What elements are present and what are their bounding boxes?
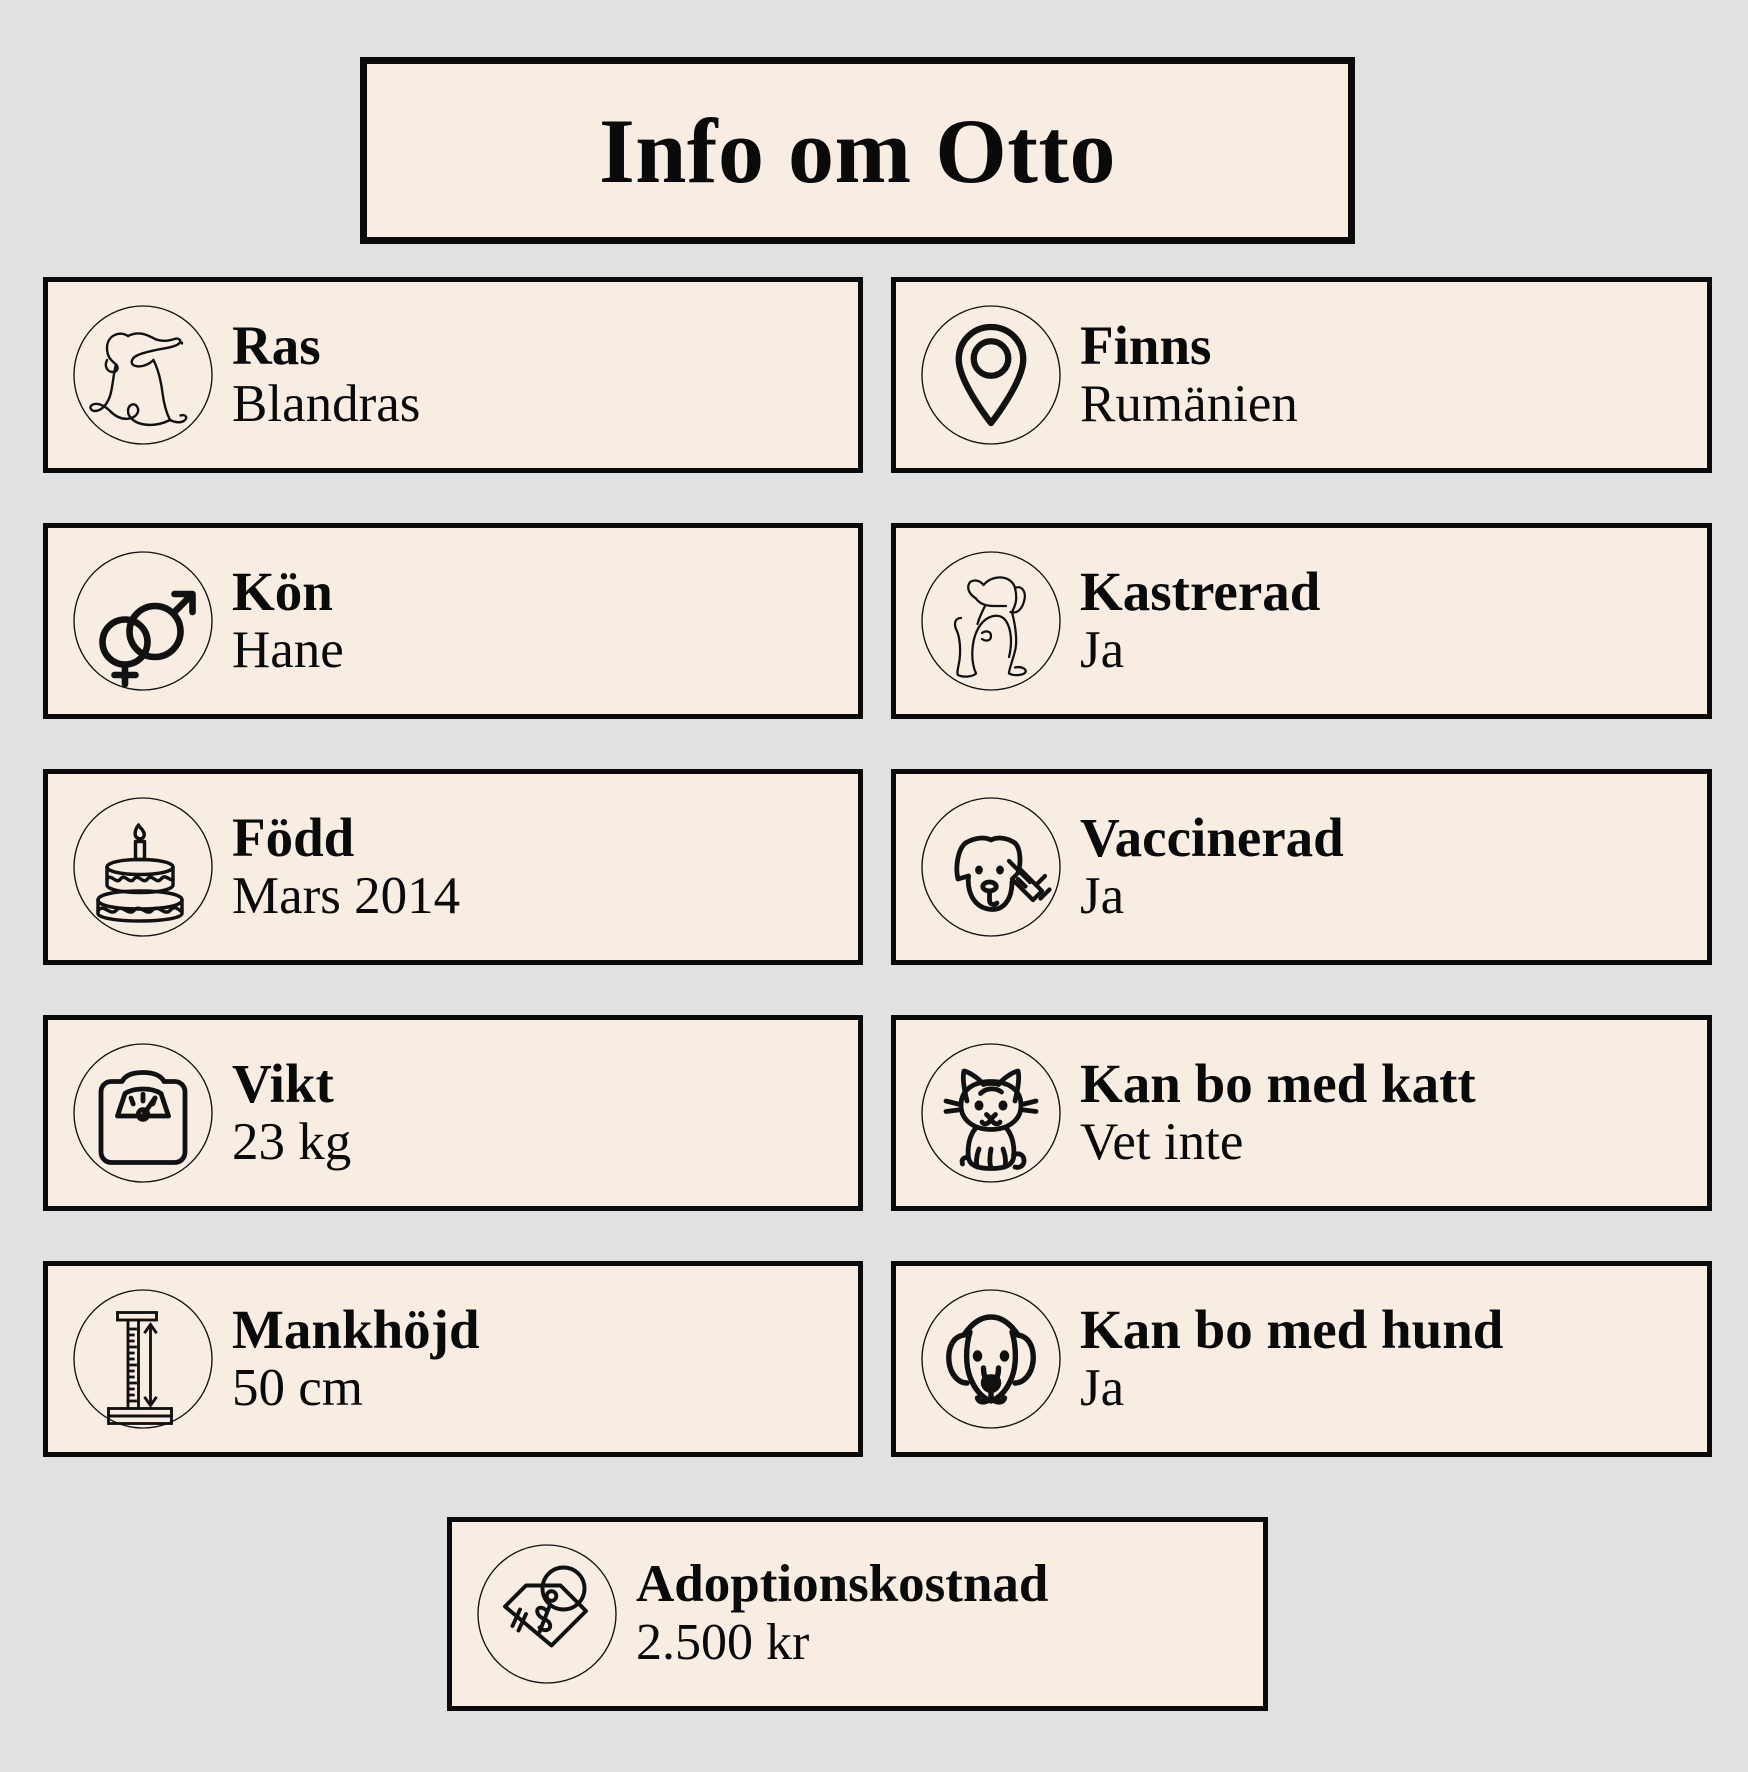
card-text: Född Mars 2014 (232, 808, 460, 927)
cat-icon (910, 1032, 1072, 1194)
location-pin-icon (910, 294, 1072, 456)
info-card-mankhojd: Mankhöjd 50 cm (43, 1261, 863, 1457)
card-text: Vaccinerad Ja (1080, 808, 1344, 927)
card-label: Vikt (232, 1054, 351, 1113)
card-value: Vet inte (1080, 1113, 1476, 1172)
card-value: 23 kg (232, 1113, 351, 1172)
dog-line-art-icon (62, 294, 224, 456)
info-card-finns: Finns Rumänien (891, 277, 1712, 473)
card-value: Hane (232, 621, 344, 680)
card-value: 50 cm (232, 1359, 480, 1418)
card-value: Ja (1080, 621, 1320, 680)
dog-vaccine-syringe-icon (910, 786, 1072, 948)
info-card-adoptionskostnad: Adoptionskostnad 2.500 kr (447, 1517, 1268, 1711)
birthday-cake-icon (62, 786, 224, 948)
card-label: Ras (232, 316, 420, 375)
card-row: Ras Blandras Finns Rumänien (43, 277, 1712, 473)
card-label: Finns (1080, 316, 1298, 375)
info-card-grid: Ras Blandras Finns Rumänien (43, 277, 1712, 1507)
card-text: Kan bo med hund Ja (1080, 1300, 1503, 1419)
sitting-dog-icon (910, 540, 1072, 702)
card-value: Ja (1080, 1359, 1503, 1418)
card-label: Född (232, 808, 460, 867)
info-card-kastrerad: Kastrerad Ja (891, 523, 1712, 719)
card-text: Finns Rumänien (1080, 316, 1298, 435)
info-card-vikt: Vikt 23 kg (43, 1015, 863, 1211)
height-ruler-icon (62, 1278, 224, 1440)
card-label: Kan bo med hund (1080, 1300, 1503, 1359)
card-row: Kön Hane (43, 523, 1712, 719)
card-text: Vikt 23 kg (232, 1054, 351, 1173)
info-card-ras: Ras Blandras (43, 277, 863, 473)
info-card-vaccinerad: Vaccinerad Ja (891, 769, 1712, 965)
page-title: Info om Otto (599, 105, 1116, 197)
card-value: Mars 2014 (232, 867, 460, 926)
card-label: Kan bo med katt (1080, 1054, 1476, 1113)
card-value: 2.500 kr (636, 1614, 1048, 1672)
card-label: Vaccinerad (1080, 808, 1344, 867)
info-card-kan-bo-med-katt: Kan bo med katt Vet inte (891, 1015, 1712, 1211)
card-label: Adoptionskostnad (636, 1556, 1048, 1613)
card-text: Mankhöjd 50 cm (232, 1300, 480, 1419)
card-value: Blandras (232, 375, 420, 434)
card-value: Rumänien (1080, 375, 1298, 434)
card-value: Ja (1080, 867, 1344, 926)
card-label: Mankhöjd (232, 1300, 480, 1359)
dog-face-icon (910, 1278, 1072, 1440)
card-text: Adoptionskostnad 2.500 kr (636, 1556, 1048, 1671)
page-title-box: Info om Otto (360, 57, 1355, 244)
info-card-kan-bo-med-hund: Kan bo med hund Ja (891, 1261, 1712, 1457)
bathroom-scale-icon (62, 1032, 224, 1194)
card-row: Vikt 23 kg (43, 1015, 1712, 1211)
card-text: Kastrerad Ja (1080, 562, 1320, 681)
info-card-kon: Kön Hane (43, 523, 863, 719)
info-card-fodd: Född Mars 2014 (43, 769, 863, 965)
card-text: Kön Hane (232, 562, 344, 681)
card-text: Ras Blandras (232, 316, 420, 435)
card-row: Född Mars 2014 (43, 769, 1712, 965)
card-label: Kön (232, 562, 344, 621)
price-tag-icon (466, 1533, 628, 1695)
gender-symbols-icon (62, 540, 224, 702)
card-text: Kan bo med katt Vet inte (1080, 1054, 1476, 1173)
card-row: Mankhöjd 50 cm (43, 1261, 1712, 1457)
card-label: Kastrerad (1080, 562, 1320, 621)
